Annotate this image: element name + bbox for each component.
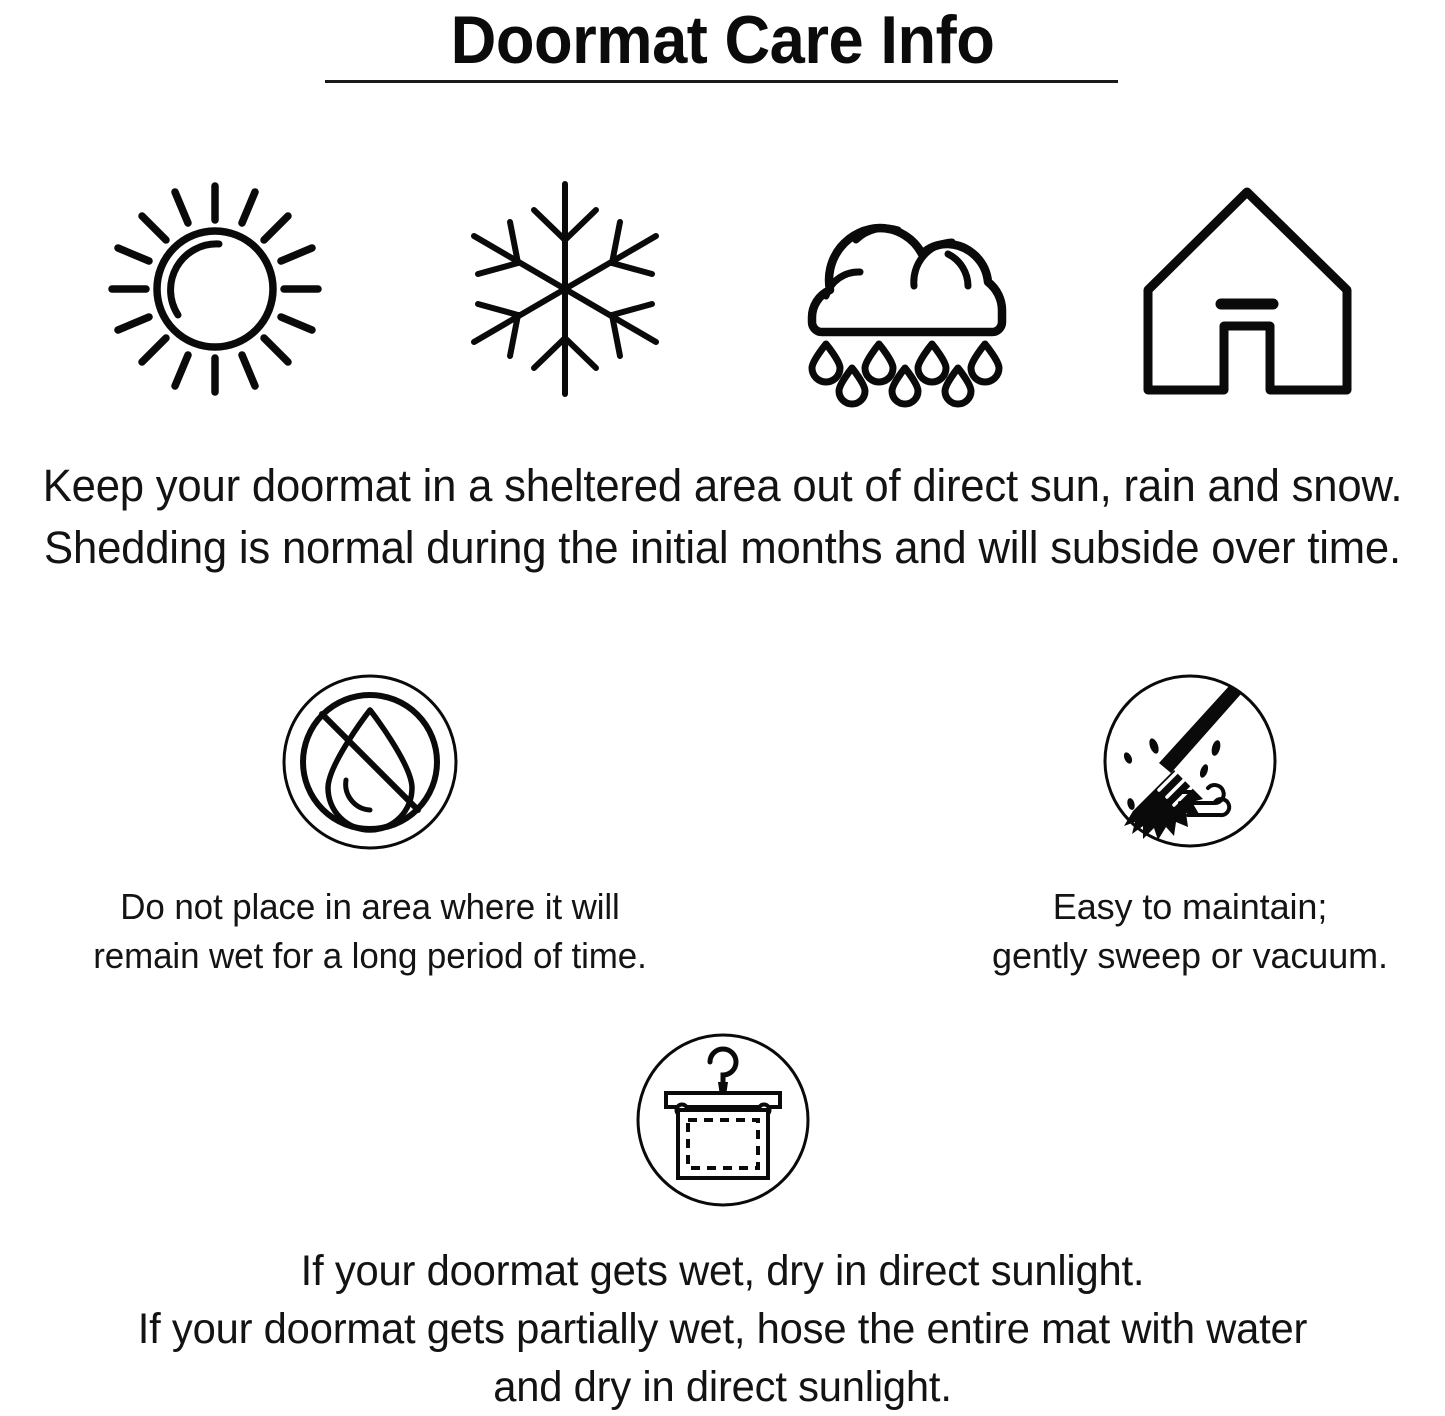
no-water-icon [280,672,460,852]
weather-icon-row [0,178,1445,403]
sun-icon [108,178,323,400]
care-pair-section: Do not place in area where it will remai… [0,672,1445,982]
easy-maintain-caption-line-1: Easy to maintain; [860,882,1445,931]
drying-caption-line-2: If your doormat gets partially wet, hose… [22,1300,1424,1358]
hanging-mat-icon-holder [0,1030,1445,1230]
rain-cloud-icon [790,178,1025,400]
drying-caption: If your doormat gets wet, dry in direct … [0,1242,1445,1416]
house-icon [1140,178,1355,400]
no-water-caption: Do not place in area where it will remai… [50,882,690,980]
intro-line-1: Keep your doormat in a sheltered area ou… [22,455,1424,517]
hanging-mat-icon [634,1030,812,1210]
no-water-icon-holder [40,672,700,862]
title-block: Doormat Care Info [0,0,1445,78]
intro-line-2: Shedding is normal during the initial mo… [22,517,1424,579]
broom-icon-holder [860,672,1445,862]
snowflake-icon [458,178,673,400]
intro-paragraph: Keep your doormat in a sheltered area ou… [0,455,1445,579]
no-water-caption-line-1: Do not place in area where it will [50,882,690,931]
drying-caption-line-1: If your doormat gets wet, dry in direct … [22,1242,1424,1300]
easy-maintain-caption: Easy to maintain; gently sweep or vacuum… [860,882,1445,980]
title-underline-rule [325,80,1118,83]
care-item-no-standing-water: Do not place in area where it will remai… [40,672,700,980]
easy-maintain-caption-line-2: gently sweep or vacuum. [860,931,1445,980]
care-item-easy-maintain: Easy to maintain; gently sweep or vacuum… [860,672,1445,980]
no-water-caption-line-2: remain wet for a long period of time. [50,931,690,980]
broom-sweep-icon [1102,672,1278,850]
drying-section: If your doormat gets wet, dry in direct … [0,1030,1445,1416]
drying-caption-line-3: and dry in direct sunlight. [22,1358,1424,1416]
page-title: Doormat Care Info [51,0,1395,78]
